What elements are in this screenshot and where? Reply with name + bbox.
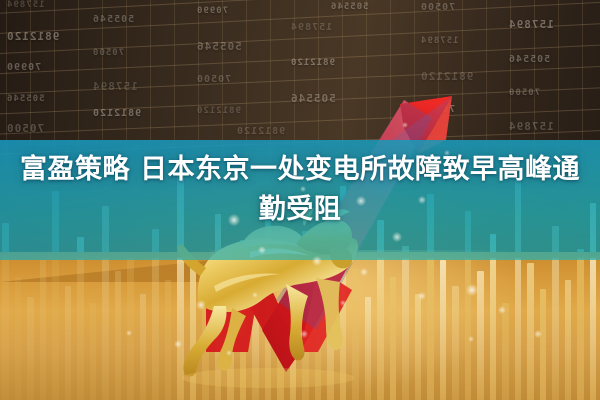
sparkle-dot [402, 122, 408, 128]
sparkle-dot [468, 336, 474, 342]
sparkle-dot [498, 306, 506, 314]
sparkle-dot [312, 256, 322, 266]
sparkle-dot [360, 268, 368, 276]
page-title: 富盈策略 日本东京一处变电所故障致早高峰通勤受阻 [0, 150, 600, 230]
sparkle-dot [226, 350, 232, 356]
sparkle-dot [340, 300, 346, 306]
news-banner-image: 1578945055469812120705007099015789450554… [0, 0, 600, 400]
sparkle-dot [392, 232, 402, 242]
sparkle-dot [174, 340, 182, 348]
sparkle-dot [126, 330, 132, 336]
sparkle-dot [534, 330, 542, 338]
sparkle-dot [252, 292, 258, 298]
sparkle-dot [466, 284, 478, 296]
sparkle-dot [300, 330, 308, 338]
sparkle-dot [418, 292, 426, 300]
sparkle-dot [258, 246, 266, 254]
sparkle-dot [196, 300, 206, 310]
